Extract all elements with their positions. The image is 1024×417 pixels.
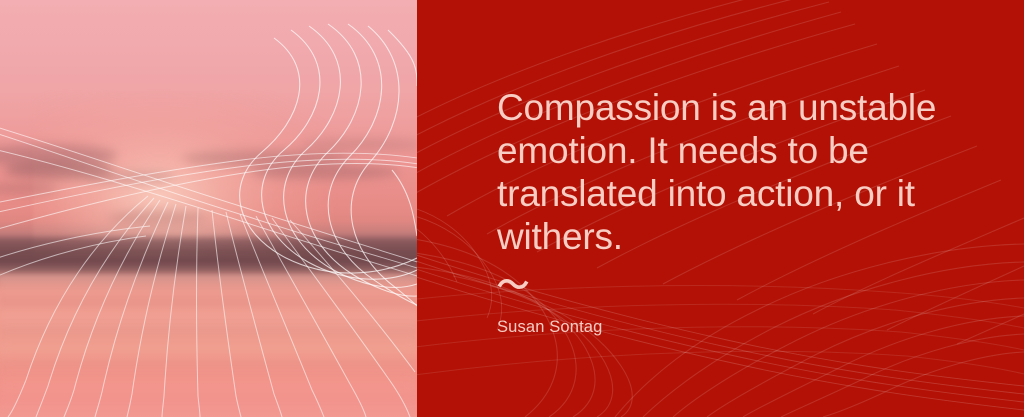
quote-author: Susan Sontag (497, 317, 984, 337)
shoreline-band-dark (0, 252, 417, 273)
cloud-band (300, 138, 417, 151)
quote-card: Compassion is an unstable emotion. It ne… (0, 0, 1024, 417)
tilde-divider-icon: 〜 (497, 275, 984, 295)
cloud-band (108, 211, 208, 225)
quote-content: Compassion is an unstable emotion. It ne… (497, 86, 984, 337)
quote-panel: Compassion is an unstable emotion. It ne… (417, 0, 1024, 417)
quote-text: Compassion is an unstable emotion. It ne… (497, 86, 967, 258)
sunset-photo-panel (0, 0, 417, 417)
cloud-band (250, 165, 400, 179)
foreground-blur (0, 325, 417, 417)
